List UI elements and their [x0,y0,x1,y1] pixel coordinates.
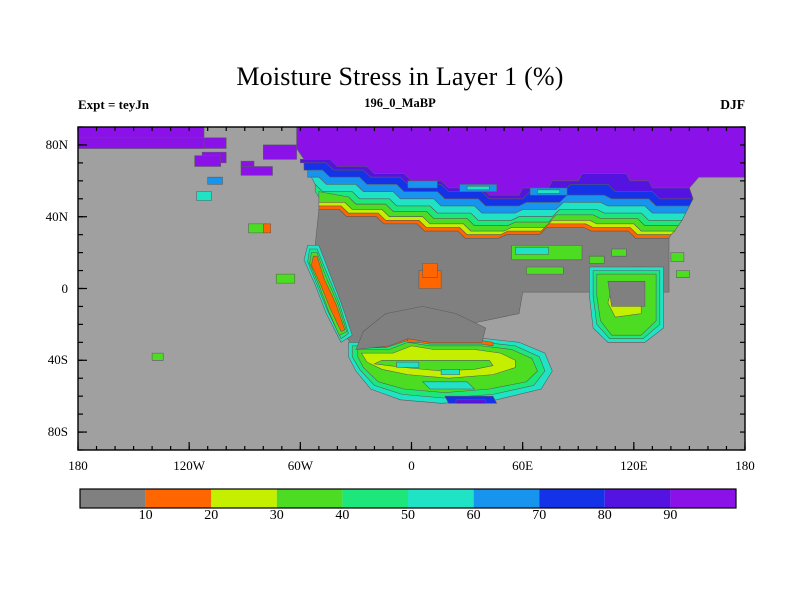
x-axis-label: 180 [68,458,88,474]
chart-page: Moisture Stress in Layer 1 (%) 196_0_MaB… [0,0,800,600]
colorbar-tick-label: 70 [532,508,546,524]
contour-band [676,271,689,278]
contour-band [241,167,273,176]
colorbar-band [474,489,540,508]
contour-band [263,145,296,159]
colorbar-band [408,489,474,508]
contour-band [195,156,221,167]
contour-band [538,190,560,194]
x-axis-label: 60E [512,458,533,474]
contour-band [197,192,212,201]
colorbar-tick-label: 60 [467,508,481,524]
colorbar-band [277,489,343,508]
y-axis-label: 80S [10,424,68,440]
contour-band [241,161,254,166]
x-axis-label: 180 [735,458,755,474]
map-plot [0,0,800,600]
x-axis-label: 120W [173,458,205,474]
contour-band [612,249,627,256]
x-axis-label: 60W [288,458,313,474]
colorbar-band [605,489,671,508]
colorbar-tick-label: 50 [401,508,415,524]
colorbar-tick-label: 90 [663,508,677,524]
colorbar-band [342,489,408,508]
colorbar-band [146,489,212,508]
contour-band [608,281,645,306]
colorbar-band [539,489,605,508]
contour-band [208,177,223,184]
colorbar-tick-label: 30 [270,508,284,524]
colorbar-band [80,489,146,508]
y-axis-label: 40N [10,209,68,225]
contour-band [408,181,438,188]
contour-band [515,247,548,254]
colorbar-tick-label: 20 [204,508,218,524]
contour-band [456,400,486,404]
contour-band [423,382,475,389]
contour-band [526,267,563,274]
y-axis-label: 0 [10,281,68,297]
contour-band [152,353,163,360]
contour-band [276,274,295,283]
contour-band [467,186,489,190]
colorbar-band [670,489,736,508]
y-axis-label: 40S [10,352,68,368]
contour-band [397,362,419,367]
colorbar [80,489,736,508]
colorbar-tick-label: 10 [139,508,153,524]
contour-band [423,263,438,277]
colorbar-tick-label: 40 [335,508,349,524]
x-axis-label: 120E [620,458,647,474]
x-axis-label: 0 [408,458,415,474]
colorbar-band [211,489,277,508]
contour-band [671,253,684,262]
contour-band [263,224,270,233]
contour-band [589,256,604,263]
contour-band [441,369,460,374]
y-axis-label: 80N [10,137,68,153]
contour-band [78,138,204,149]
colorbar-tick-label: 80 [598,508,612,524]
